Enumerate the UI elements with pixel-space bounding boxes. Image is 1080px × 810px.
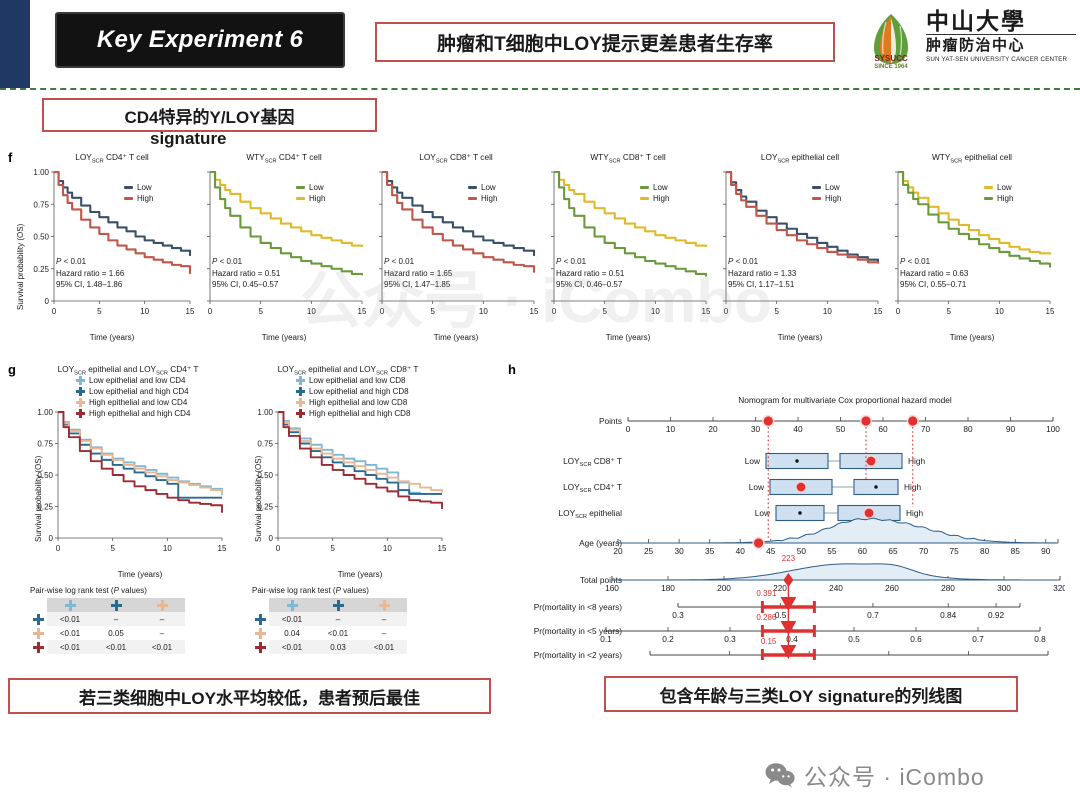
table-corner-cell: [30, 598, 47, 612]
nomogram-row-label: Pr(mortality in <8 years): [534, 602, 623, 612]
nomogram-marker-dot: [764, 416, 773, 425]
legend-swatch: [640, 197, 649, 200]
column-plus-marker: [379, 600, 390, 611]
legend-item: Low epithelial and high CD8: [296, 386, 410, 397]
nomogram-tick-label: 30: [751, 424, 761, 434]
nomogram-tick-label: 0.8: [1034, 634, 1046, 644]
svg-text:1.00: 1.00: [257, 408, 273, 417]
km-legend: LowHigh: [296, 182, 325, 204]
nomogram-marker-dot: [908, 416, 917, 425]
svg-text:0.75: 0.75: [33, 200, 49, 209]
km-panel-title: LOYSCR CD8⁺ T cell: [372, 152, 540, 165]
pairwise-caption: Pair-wise log rank test (P values): [30, 586, 185, 595]
nomogram-tick-label: 65: [888, 546, 898, 556]
nomogram-tick-label: 70: [921, 424, 931, 434]
nomogram-tick-label: 0.92: [988, 610, 1005, 620]
nomogram-marker-dot: [797, 483, 806, 492]
svg-text:15: 15: [218, 544, 227, 553]
km-panel-title: LOYSCR CD4⁺ T cell: [28, 152, 196, 165]
row-plus-marker: [255, 614, 266, 625]
legend-label: Low epithelial and low CD4: [89, 375, 186, 386]
nomogram-tick-label: 40: [736, 546, 746, 556]
table-cell: <0.01: [315, 626, 361, 640]
svg-text:0: 0: [269, 534, 274, 543]
legend-label: Low: [997, 182, 1012, 193]
mortality-value-label: 0.15: [761, 637, 777, 646]
legend-swatch: [468, 186, 477, 189]
stat-hazard-ratio: Hazard ratio = 0.51: [556, 268, 624, 280]
svg-text:15: 15: [1046, 307, 1055, 316]
km-x-axis-label: Time (years): [40, 570, 240, 579]
svg-text:15: 15: [530, 307, 539, 316]
nomogram-tick-label: 10: [666, 424, 676, 434]
nomogram-tick-label: 35: [705, 546, 715, 556]
total-points-density-curve: [612, 564, 1060, 580]
km-plot-area: 051015: [888, 168, 1056, 328]
f-y-axis-label: Survival probability (OS): [16, 224, 25, 310]
nomogram-tick-label: 20: [708, 424, 718, 434]
legend-swatch: [984, 186, 993, 189]
university-logo: SYSUCC SINCE 1964 中山大學 肿瘤防治中心 SUN YAT-SE…: [860, 8, 1075, 80]
nomogram-low-label: Low: [745, 456, 761, 466]
km-plot-area: 051015: [200, 168, 368, 328]
pairwise-table-g2-table: Pair-wise log rank test (P values)<0.01–…: [252, 586, 407, 654]
key-experiment-badge: Key Experiment 6: [55, 12, 345, 68]
svg-text:0: 0: [552, 307, 557, 316]
legend-item: High epithelial and high CD4: [76, 408, 190, 419]
km-stats: P < 0.01Hazard ratio = 1.6695% CI, 1.48–…: [56, 256, 124, 291]
nomogram: Nomogram for multivariate Cox proportion…: [520, 395, 1065, 660]
km-plot-area: 1.000.750.500.250051015: [28, 168, 196, 328]
km-panel-f2: WTYSCR CD4⁺ T cell051015LowHighP < 0.01H…: [200, 152, 368, 343]
table-row: <0.01<0.01<0.01: [30, 640, 185, 654]
table-cell: –: [361, 626, 407, 640]
km-x-axis-label: Time (years): [372, 333, 540, 342]
legend-item: High epithelial and low CD8: [296, 397, 410, 408]
wechat-credit: 公众号 · iCombo: [765, 758, 985, 792]
svg-text:10: 10: [651, 307, 660, 316]
nomogram-tick-label: 80: [980, 546, 990, 556]
nomogram-tick-label: 0.2: [662, 634, 674, 644]
km-plot-svg: 1.000.750.500.250051015: [28, 168, 196, 323]
stat-hazard-ratio: Hazard ratio = 0.51: [212, 268, 280, 280]
legend-label: High: [309, 193, 325, 204]
nomogram-tick-label: 0.1: [644, 658, 656, 660]
svg-text:0.75: 0.75: [257, 440, 273, 449]
svg-text:0: 0: [896, 307, 901, 316]
legend-item: High epithelial and low CD4: [76, 397, 190, 408]
row-plus-marker: [33, 614, 44, 625]
km-legend: LowHigh: [640, 182, 669, 204]
stat-pvalue: P < 0.01: [556, 256, 624, 268]
legend-plus-marker: [76, 409, 85, 418]
stat-confidence-interval: 95% CI, 1.47–1.85: [384, 279, 452, 291]
column-plus-marker: [287, 600, 298, 611]
km-legend: LowHigh: [984, 182, 1013, 204]
nomogram-tick-label: 0.3: [724, 634, 736, 644]
legend-item: High: [468, 193, 497, 204]
legend-label: High: [137, 193, 153, 204]
stat-confidence-interval: 95% CI, 1.48–1.86: [56, 279, 124, 291]
km-curve: [898, 172, 1050, 255]
km-curve: [898, 172, 1050, 267]
svg-text:0.25: 0.25: [33, 265, 49, 274]
panel-letter-h: h: [508, 362, 516, 377]
stat-pvalue: P < 0.01: [212, 256, 280, 268]
table-column-header: [93, 598, 139, 612]
table-row-header: [30, 640, 47, 654]
svg-text:5: 5: [258, 307, 263, 316]
nomogram-row-label: LOYSCR epithelial: [559, 508, 623, 520]
km-curve: [554, 172, 706, 247]
nomogram-tick-label: 85: [1011, 546, 1021, 556]
sysucc-badge: SYSUCC SINCE 1964: [860, 54, 922, 72]
nomogram-tick-label: 90: [1041, 546, 1051, 556]
table-cell: <0.01: [93, 640, 139, 654]
nomogram-tick-label: 0.5: [963, 658, 975, 660]
table-cell: –: [315, 612, 361, 626]
pairwise-table: <0.01––0.04<0.01–<0.010.03<0.01: [252, 598, 407, 654]
mortality-value-label: 0.391: [756, 589, 777, 598]
table-cell: <0.01: [47, 612, 93, 626]
table-cell: –: [139, 612, 185, 626]
nomogram-tick-label: 0.3: [672, 610, 684, 620]
panel-letter-f: f: [8, 150, 12, 165]
stat-hazard-ratio: Hazard ratio = 1.65: [384, 268, 452, 280]
km-plot-svg: 051015: [888, 168, 1056, 323]
key-experiment-label: Key Experiment 6: [97, 26, 303, 54]
table-row-header: [30, 626, 47, 640]
table-cell: <0.01: [269, 612, 315, 626]
legend-swatch: [640, 186, 649, 189]
legend-swatch: [984, 197, 993, 200]
svg-text:0: 0: [49, 534, 54, 543]
km-panel-title: WTYSCR CD4⁺ T cell: [200, 152, 368, 165]
stat-confidence-interval: 95% CI, 0.55–0.71: [900, 279, 968, 291]
km-panel-f5: LOYSCR epithelial cell051015LowHighP < 0…: [716, 152, 884, 343]
pairwise-caption: Pair-wise log rank test (P values): [252, 586, 407, 595]
nomogram-tick-label: 80: [963, 424, 973, 434]
svg-text:5: 5: [97, 307, 102, 316]
legend-label: High: [825, 193, 841, 204]
legend-item: Low epithelial and high CD4: [76, 386, 190, 397]
nomogram-tick-label: 40: [793, 424, 803, 434]
nomogram-svg: Points0102030405060708090100LOYSCR CD8⁺ …: [520, 395, 1065, 660]
km-legend: LowHigh: [124, 182, 153, 204]
table-cell: 0.03: [315, 640, 361, 654]
legend-label: Low: [309, 182, 324, 193]
nomogram-high-label: High: [906, 508, 923, 518]
km-plot-svg: 1.000.750.500.250051015: [28, 408, 228, 560]
km-curve: [58, 412, 222, 494]
km-x-axis-label: Time (years): [544, 333, 712, 342]
km-panel-f6: WTYSCR epithelial cell051015LowHighP < 0…: [888, 152, 1056, 343]
table-row-header: [252, 640, 269, 654]
row-plus-marker: [255, 642, 266, 653]
legend-item: Low epithelial and low CD8: [296, 375, 410, 386]
legend-label: Low epithelial and low CD8: [309, 375, 406, 386]
km-legend: Low epithelial and low CD8Low epithelial…: [296, 375, 410, 419]
km-plot-area: 051015: [372, 168, 540, 328]
stat-pvalue: P < 0.01: [728, 256, 796, 268]
nomogram-tick-label: 75: [949, 546, 959, 556]
legend-item: Low: [296, 182, 325, 193]
legend-item: Low: [984, 182, 1013, 193]
legend-item: High: [984, 193, 1013, 204]
table-cell: 0.04: [269, 626, 315, 640]
nomogram-tick-label: 0: [626, 424, 631, 434]
svg-text:10: 10: [995, 307, 1004, 316]
svg-text:10: 10: [140, 307, 149, 316]
legend-label: Low: [653, 182, 668, 193]
km-y-axis-label: Survival probability (OS): [254, 456, 263, 542]
svg-text:15: 15: [702, 307, 711, 316]
nomogram-tick-label: 30: [674, 546, 684, 556]
legend-label: Low: [825, 182, 840, 193]
svg-text:5: 5: [946, 307, 951, 316]
stat-confidence-interval: 95% CI, 1.17–1.51: [728, 279, 796, 291]
nomogram-tick-label: 20: [613, 546, 623, 556]
legend-item: Low: [124, 182, 153, 193]
nomogram-tick-label: 60: [878, 424, 888, 434]
svg-text:5: 5: [774, 307, 779, 316]
km-plot-svg: 051015: [544, 168, 712, 323]
legend-label: Low: [481, 182, 496, 193]
legend-label: High: [653, 193, 669, 204]
legend-label: High: [997, 193, 1013, 204]
table-column-header: [315, 598, 361, 612]
legend-plus-marker: [296, 409, 305, 418]
table-row: <0.010.05–: [30, 626, 185, 640]
svg-text:0: 0: [276, 544, 281, 553]
svg-text:1.00: 1.00: [37, 408, 53, 417]
nomogram-tick-label: 0.4: [883, 658, 895, 660]
km-legend: LowHigh: [812, 182, 841, 204]
km-plot-area: 1.000.750.500.250051015: [28, 408, 228, 565]
nomogram-title: Nomogram for multivariate Cox proportion…: [625, 395, 1065, 405]
svg-text:5: 5: [330, 544, 335, 553]
svg-text:15: 15: [438, 544, 447, 553]
legend-plus-marker: [76, 398, 85, 407]
table-row-header: [252, 626, 269, 640]
wechat-label: 公众号 · iCombo: [804, 758, 985, 792]
header-divider: [0, 88, 1080, 90]
legend-plus-marker: [296, 398, 305, 407]
slide-title-box: 肿瘤和T细胞中LOY提示更差患者生存率: [375, 22, 835, 62]
table-cell: –: [139, 626, 185, 640]
legend-item: Low: [812, 182, 841, 193]
age-density-curve: [618, 518, 1058, 543]
km-panel-f3: LOYSCR CD8⁺ T cell051015LowHighP < 0.01H…: [372, 152, 540, 343]
km-panel-g1: LOYSCR epithelial and LOYSCR CD4⁺ T1.000…: [28, 364, 228, 564]
legend-item: Low epithelial and low CD4: [76, 375, 190, 386]
legend-plus-marker: [76, 376, 85, 385]
km-plot-area: 051015: [716, 168, 884, 328]
km-stats: P < 0.01Hazard ratio = 0.6395% CI, 0.55–…: [900, 256, 968, 291]
legend-item: High: [640, 193, 669, 204]
left-accent-bar: [0, 0, 30, 88]
table-column-header: [361, 598, 407, 612]
footer-caption-left: 若三类细胞中LOY水平均较低，患者预后最佳: [79, 684, 420, 709]
stat-hazard-ratio: Hazard ratio = 1.33: [728, 268, 796, 280]
stat-confidence-interval: 95% CI, 0.45–0.57: [212, 279, 280, 291]
table-column-header: [47, 598, 93, 612]
svg-text:0: 0: [724, 307, 729, 316]
table-cell: –: [361, 612, 407, 626]
pairwise-table: <0.01––<0.010.05–<0.01<0.01<0.01: [30, 598, 185, 654]
table-cell: –: [93, 612, 139, 626]
km-panel-title: WTYSCR CD8⁺ T cell: [544, 152, 712, 165]
section-heading-text: CD4特异的Y/LOY基因: [124, 103, 294, 128]
km-legend: LowHigh: [468, 182, 497, 204]
stat-pvalue: P < 0.01: [900, 256, 968, 268]
table-row-header: [30, 612, 47, 626]
table-cell: <0.01: [47, 640, 93, 654]
table-row: <0.010.03<0.01: [252, 640, 407, 654]
nomogram-row-label: Pr(mortality in <2 years): [534, 650, 623, 660]
row-plus-marker: [255, 628, 266, 639]
nomogram-tick-label: 320: [1053, 583, 1065, 593]
logo-text-block: 中山大學 肿瘤防治中心 SUN YAT-SEN UNIVERSITY CANCE…: [926, 8, 1076, 64]
table-cell: <0.01: [269, 640, 315, 654]
legend-plus-marker: [296, 387, 305, 396]
row-plus-marker: [33, 628, 44, 639]
km-x-axis-label: Time (years): [200, 333, 368, 342]
column-plus-marker: [333, 600, 344, 611]
nomogram-tick-label: 70: [919, 546, 929, 556]
nomogram-tick-label: 0.5: [775, 610, 787, 620]
legend-swatch: [812, 186, 821, 189]
svg-text:10: 10: [307, 307, 316, 316]
table-row: <0.01––: [252, 612, 407, 626]
nomogram-low-label: Low: [749, 482, 765, 492]
table-corner-cell: [252, 598, 269, 612]
page-title: 肿瘤和T细胞中LOY提示更差患者生存率: [437, 29, 773, 56]
svg-text:1.00: 1.00: [33, 168, 49, 177]
nomogram-tick-label: 50: [797, 546, 807, 556]
legend-plus-marker: [76, 387, 85, 396]
nomogram-row-label: LOYSCR CD8⁺ T: [563, 456, 622, 468]
nomogram-tick-label: 0.6: [910, 634, 922, 644]
legend-label: High epithelial and low CD8: [309, 397, 407, 408]
nomogram-row-label: Points: [599, 416, 622, 426]
legend-label: Low epithelial and high CD8: [309, 386, 409, 397]
nomogram-high-label: High: [908, 456, 925, 466]
wechat-icon: [765, 762, 795, 788]
legend-plus-marker: [296, 376, 305, 385]
km-panel-g2: LOYSCR epithelial and LOYSCR CD8⁺ T1.000…: [248, 364, 448, 564]
section-heading-overflow: signature: [150, 129, 227, 149]
legend-item: Low: [640, 182, 669, 193]
legend-item: High: [296, 193, 325, 204]
km-legend: Low epithelial and low CD4Low epithelial…: [76, 375, 190, 419]
km-panel-f4: WTYSCR CD8⁺ T cell051015LowHighP < 0.01H…: [544, 152, 712, 343]
mortality-value-label: 0.286: [756, 613, 777, 622]
km-curve: [278, 412, 442, 494]
table-cell: <0.01: [361, 640, 407, 654]
km-x-axis-label: Time (years): [260, 570, 460, 579]
table-column-header: [269, 598, 315, 612]
km-stats: P < 0.01Hazard ratio = 0.5195% CI, 0.46–…: [556, 256, 624, 291]
nomogram-tick-label: 0.6: [1042, 658, 1054, 660]
km-curve: [726, 172, 878, 262]
nomogram-tick-label: 240: [829, 583, 843, 593]
km-plot-svg: 051015: [200, 168, 368, 323]
svg-text:0: 0: [52, 307, 57, 316]
km-plot-svg: 051015: [716, 168, 884, 323]
footer-caption-right-box: 包含年龄与三类LOY signature的列线图: [604, 676, 1018, 712]
km-curve: [726, 172, 878, 264]
nomogram-tick-label: 0.2: [724, 658, 736, 660]
nomogram-tick-label: 180: [661, 583, 675, 593]
km-plot-svg: 051015: [372, 168, 540, 323]
svg-text:10: 10: [823, 307, 832, 316]
km-stats: P < 0.01Hazard ratio = 0.5195% CI, 0.45–…: [212, 256, 280, 291]
nomogram-marker-dot: [754, 538, 763, 547]
km-stats: P < 0.01Hazard ratio = 1.3395% CI, 1.17–…: [728, 256, 796, 291]
legend-swatch: [468, 197, 477, 200]
nomogram-row-label: LOYSCR CD4⁺ T: [563, 482, 622, 494]
nomogram-tick-label: 260: [885, 583, 899, 593]
svg-text:10: 10: [383, 544, 392, 553]
km-plot-area: 051015: [544, 168, 712, 328]
nomogram-tick-label: 0.7: [867, 610, 879, 620]
svg-text:0: 0: [380, 307, 385, 316]
km-panel-title: LOYSCR epithelial cell: [716, 152, 884, 165]
nomogram-tick-label: 200: [717, 583, 731, 593]
km-curve: [278, 412, 442, 494]
legend-label: High epithelial and low CD4: [89, 397, 187, 408]
km-panel-title: WTYSCR epithelial cell: [888, 152, 1056, 165]
stat-hazard-ratio: Hazard ratio = 1.66: [56, 268, 124, 280]
nomogram-marker-dot: [865, 509, 874, 518]
table-row-header: [252, 612, 269, 626]
svg-text:15: 15: [186, 307, 195, 316]
table-row: <0.01––: [30, 612, 185, 626]
table-column-header: [139, 598, 185, 612]
total-points-value-label: 223: [782, 554, 796, 563]
nomogram-marker-dot: [861, 416, 870, 425]
legend-swatch: [296, 197, 305, 200]
km-stats: P < 0.01Hazard ratio = 1.6595% CI, 1.47–…: [384, 256, 452, 291]
stat-pvalue: P < 0.01: [56, 256, 124, 268]
stat-hazard-ratio: Hazard ratio = 0.63: [900, 268, 968, 280]
svg-text:5: 5: [430, 307, 435, 316]
km-curve: [54, 172, 190, 256]
nomogram-tick-label: 300: [997, 583, 1011, 593]
nomogram-marker-dot: [867, 457, 876, 466]
nomogram-body: Points0102030405060708090100LOYSCR CD8⁺ …: [520, 395, 1065, 665]
footer-caption-right: 包含年龄与三类LOY signature的列线图: [660, 682, 963, 707]
table-row: 0.04<0.01–: [252, 626, 407, 640]
table-cell: <0.01: [47, 626, 93, 640]
column-plus-marker: [65, 600, 76, 611]
svg-text:15: 15: [874, 307, 883, 316]
km-x-axis-label: Time (years): [888, 333, 1056, 342]
svg-text:10: 10: [163, 544, 172, 553]
pairwise-table-g1-table: Pair-wise log rank test (P values)<0.01–…: [30, 586, 185, 654]
table-cell: <0.01: [139, 640, 185, 654]
km-x-axis-label: Time (years): [28, 333, 196, 342]
legend-item: High: [124, 193, 153, 204]
row-plus-marker: [33, 642, 44, 653]
stat-confidence-interval: 95% CI, 0.46–0.57: [556, 279, 624, 291]
km-plot-area: 1.000.750.500.250051015: [248, 408, 448, 565]
svg-text:5: 5: [602, 307, 607, 316]
svg-text:0: 0: [208, 307, 213, 316]
stat-pvalue: P < 0.01: [384, 256, 452, 268]
nomogram-tick-label: 90: [1006, 424, 1016, 434]
